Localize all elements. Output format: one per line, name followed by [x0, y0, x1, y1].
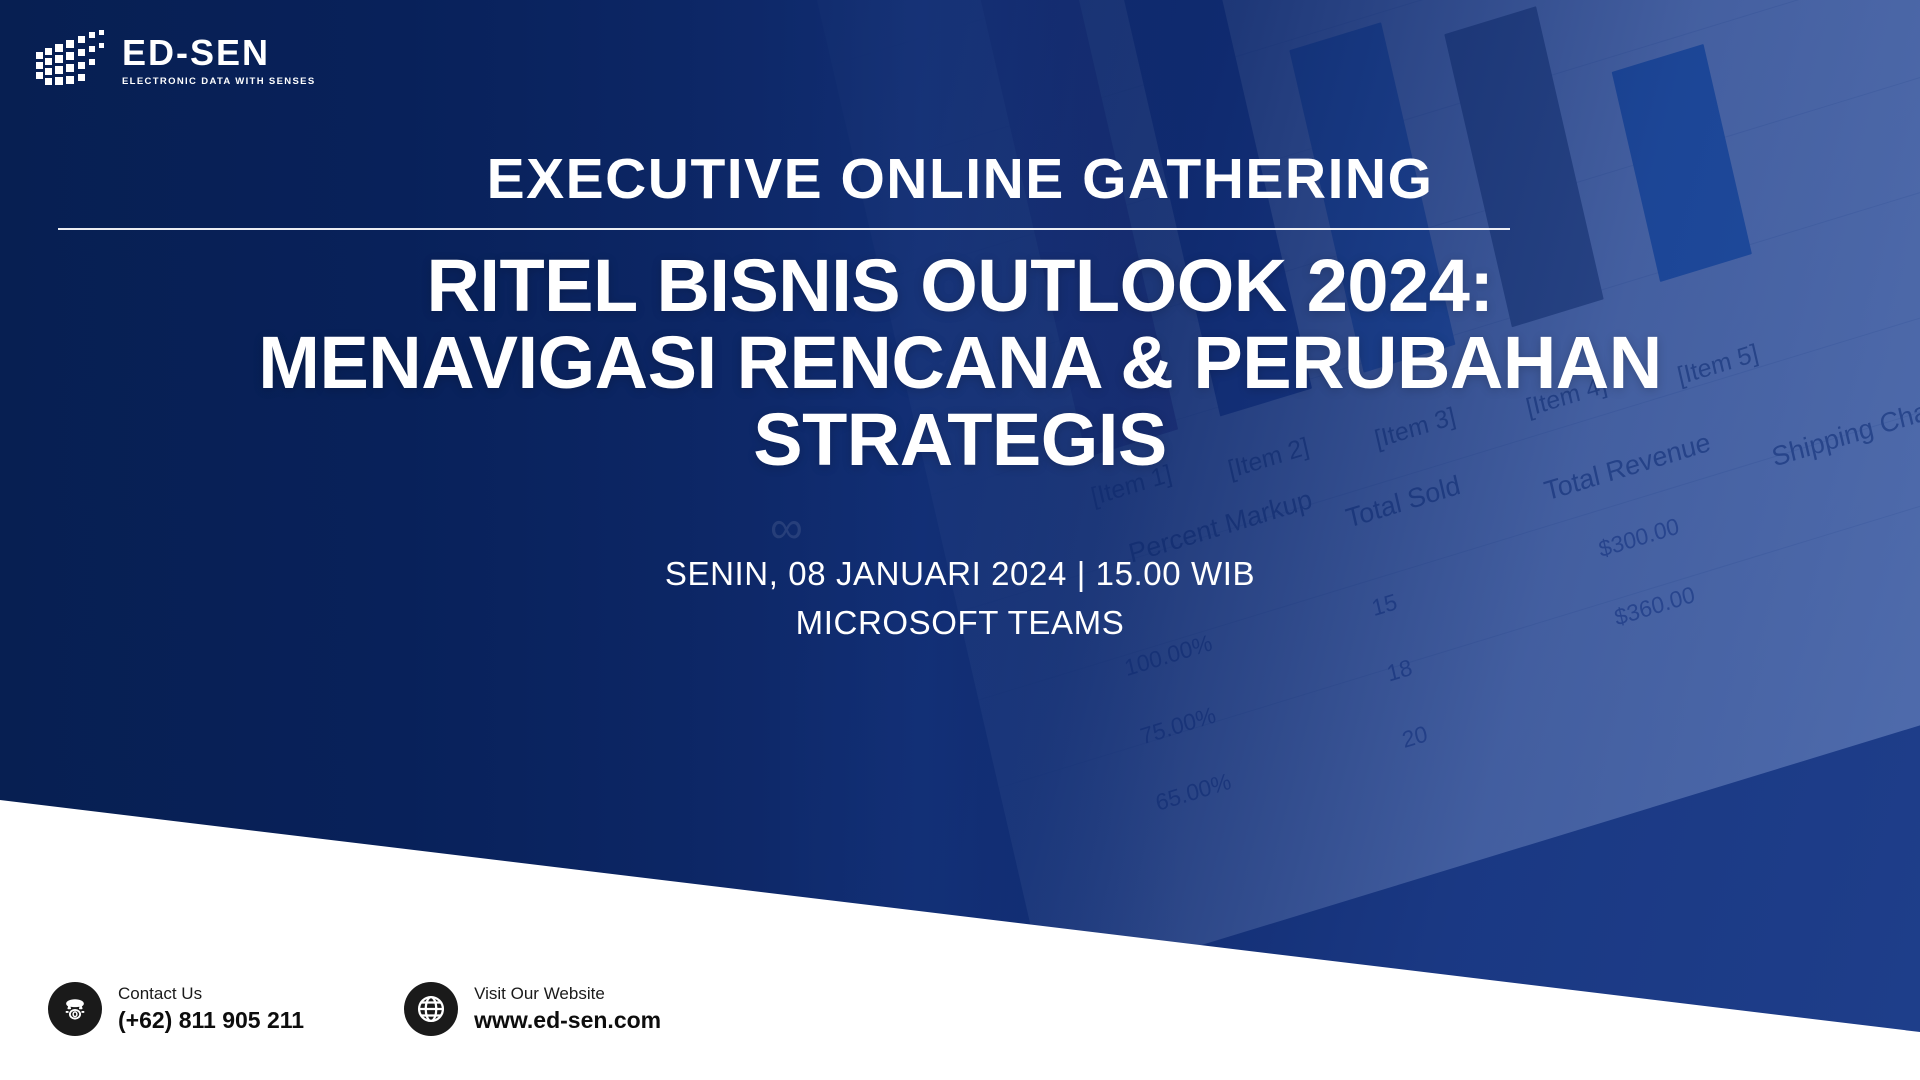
contact-website[interactable]: Visit Our Website www.ed-sen.com — [404, 982, 661, 1036]
title-line-2: MENAVIGASI RENCANA & PERUBAHAN — [60, 325, 1860, 402]
header-divider — [58, 228, 1510, 230]
footer-contacts: Contact Us (+62) 811 905 211 Visit Our W… — [48, 982, 661, 1036]
logo-wordmark: ED-SEN ELECTRONIC DATA WITH SENSES — [122, 35, 316, 87]
contact-website-text: Visit Our Website www.ed-sen.com — [474, 983, 661, 1036]
pixel-cube-icon — [36, 30, 110, 92]
event-kicker: EXECUTIVE ONLINE GATHERING — [0, 146, 1920, 212]
event-datetime: SENIN, 08 JANUARI 2024 | 15.00 WIB — [0, 550, 1920, 599]
phone-icon — [48, 982, 102, 1036]
contact-website-value: www.ed-sen.com — [474, 1006, 661, 1036]
logo-tagline: ELECTRONIC DATA WITH SENSES — [122, 76, 316, 87]
poster-canvas: [Item 1] [Item 2] [Item 3] [Item 4] [Ite… — [0, 0, 1920, 1080]
contact-phone-label: Contact Us — [118, 983, 304, 1006]
event-meta: SENIN, 08 JANUARI 2024 | 15.00 WIB MICRO… — [0, 550, 1920, 648]
title-line-3: STRATEGIS — [60, 402, 1860, 479]
contact-website-label: Visit Our Website — [474, 983, 661, 1006]
logo-word: ED-SEN — [122, 35, 316, 71]
contact-phone-value: (+62) 811 905 211 — [118, 1006, 304, 1036]
title-line-1: RITEL BISNIS OUTLOOK 2024: — [60, 248, 1860, 325]
infinity-watermark: ∞ — [770, 500, 801, 554]
contact-phone[interactable]: Contact Us (+62) 811 905 211 — [48, 982, 304, 1036]
brand-logo: ED-SEN ELECTRONIC DATA WITH SENSES — [36, 30, 316, 92]
event-platform: MICROSOFT TEAMS — [0, 599, 1920, 648]
globe-icon — [404, 982, 458, 1036]
page-title: RITEL BISNIS OUTLOOK 2024: MENAVIGASI RE… — [60, 248, 1860, 479]
contact-phone-text: Contact Us (+62) 811 905 211 — [118, 983, 304, 1036]
